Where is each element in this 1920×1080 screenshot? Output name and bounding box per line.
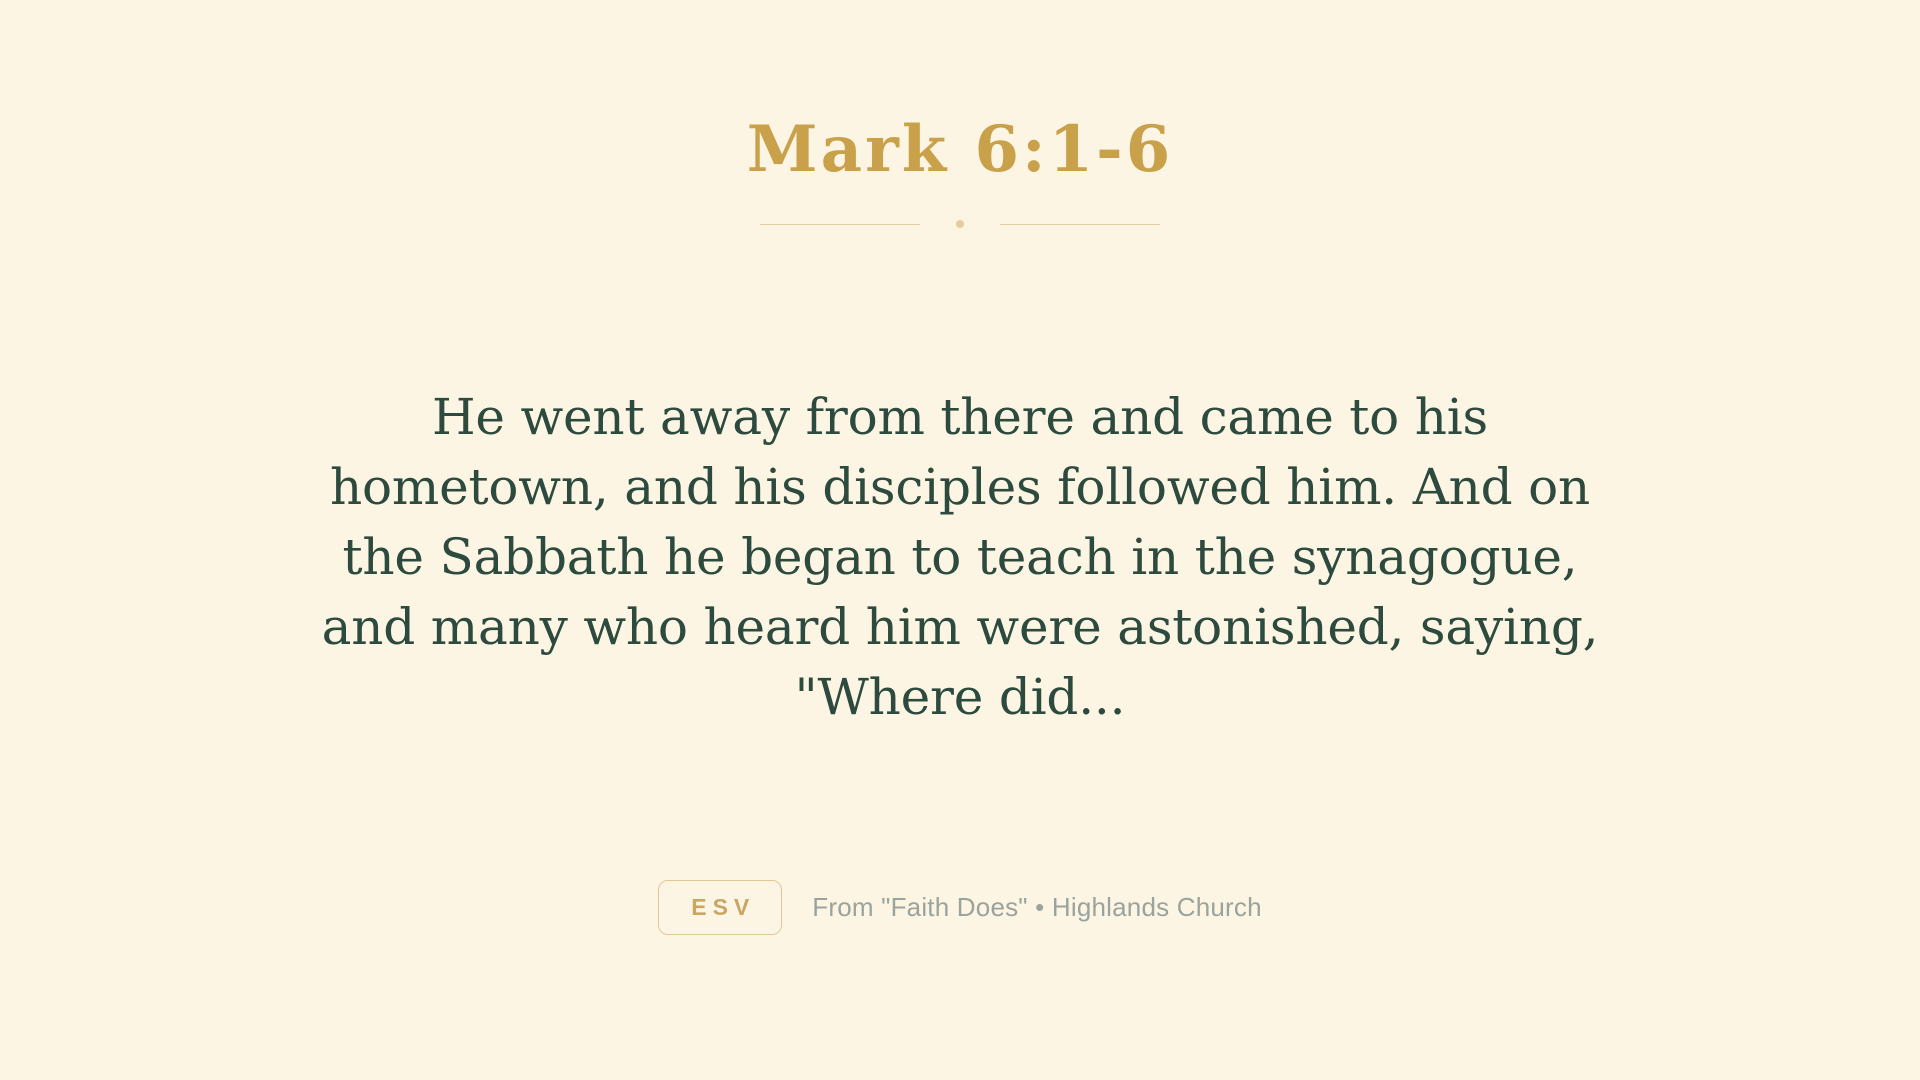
divider-dot-icon xyxy=(956,220,964,228)
verse-text: He went away from there and came to his … xyxy=(295,382,1625,732)
attribution-text: From "Faith Does" • Highlands Church xyxy=(812,892,1261,923)
verse-container: He went away from there and came to his … xyxy=(290,382,1630,732)
page-title: Mark 6:1-6 xyxy=(747,116,1173,183)
divider-line-left xyxy=(760,224,920,225)
scripture-reference-block: Mark 6:1-6 xyxy=(0,116,1920,230)
divider-line-right xyxy=(1000,224,1160,225)
ornamental-divider xyxy=(760,218,1160,230)
status-badge[interactable]: ESV xyxy=(658,880,782,935)
slide-footer: ESV From "Faith Does" • Highlands Church xyxy=(658,880,1262,935)
scripture-slide: Mark 6:1-6 He went away from there and c… xyxy=(0,0,1920,1080)
